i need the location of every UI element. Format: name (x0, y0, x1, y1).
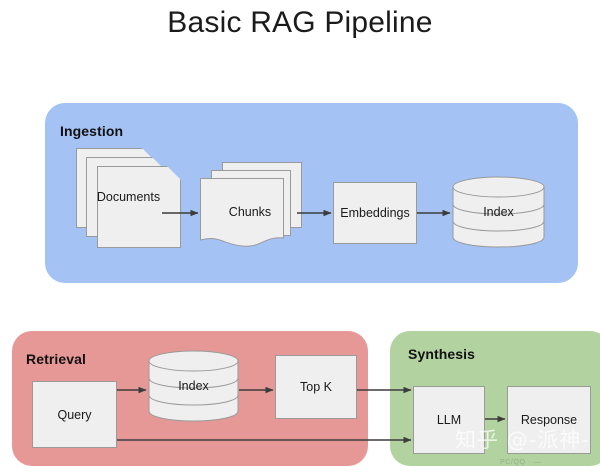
watermark-zhihu: 知乎 @-派神- (455, 424, 590, 454)
node-query[interactable]: Query (32, 381, 117, 448)
group-label-retrieval: Retrieval (26, 351, 86, 367)
node-embeddings[interactable]: Embeddings (333, 182, 417, 244)
diagram-canvas: Basic RAG Pipeline Ingestion Retrieval S… (0, 0, 600, 475)
page-title: Basic RAG Pipeline (0, 6, 600, 40)
node-label-chunks: Chunks (200, 205, 300, 219)
node-label-index-ingestion: Index (452, 205, 545, 219)
node-label-documents: Documents (76, 190, 181, 204)
node-top-k[interactable]: Top K (275, 355, 357, 419)
group-label-ingestion: Ingestion (60, 123, 123, 139)
watermark-footer: PC/QQ · — (500, 459, 541, 466)
group-label-synthesis: Synthesis (408, 346, 475, 362)
node-label-index-retrieval: Index (148, 379, 239, 393)
document-page-front (97, 166, 181, 248)
